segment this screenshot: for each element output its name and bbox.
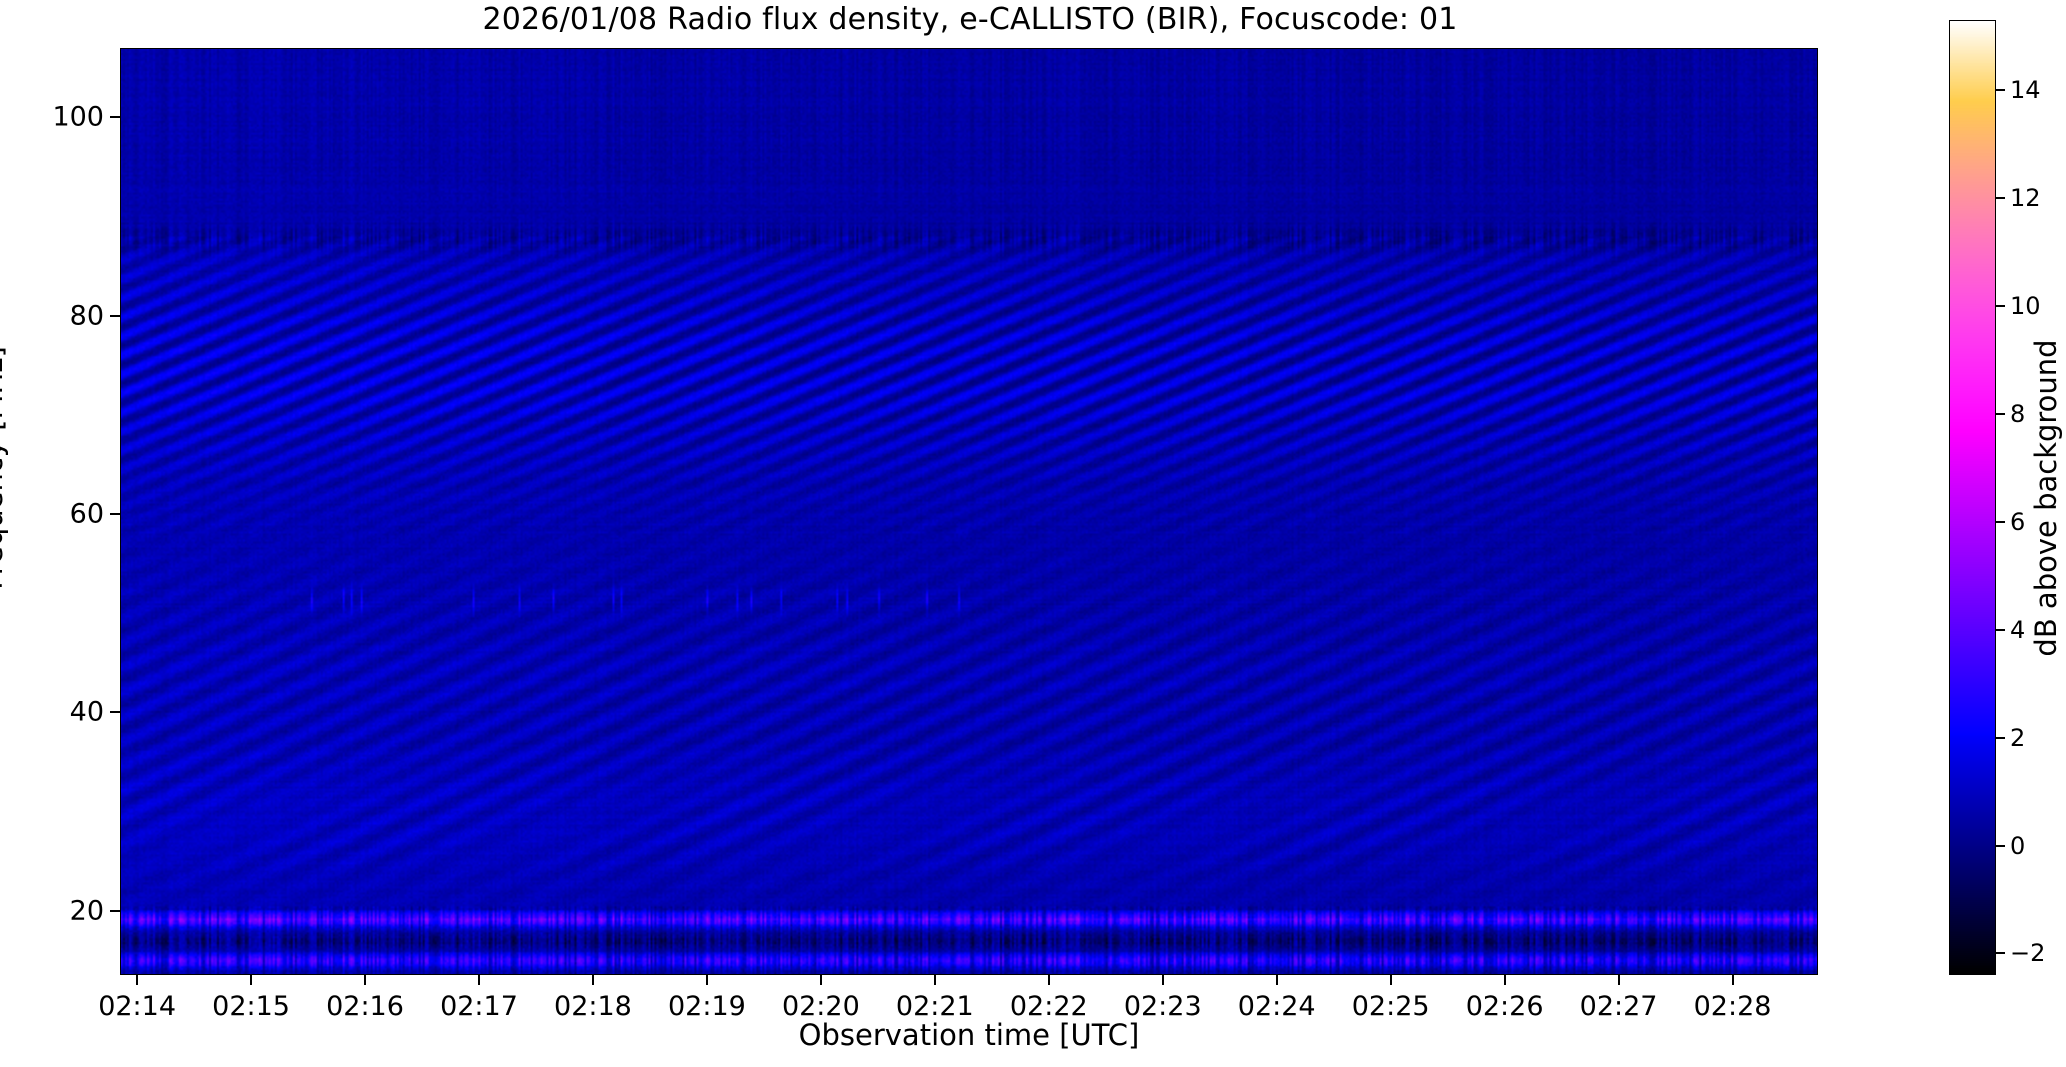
colorbar-label: dB above background	[2029, 339, 2063, 656]
colorbar-tick-label: 12	[2010, 184, 2041, 212]
y-tick-label: 20	[34, 895, 104, 926]
x-tick-mark	[1504, 975, 1506, 985]
colorbar-gradient	[1950, 21, 1995, 974]
x-tick-mark	[478, 975, 480, 985]
colorbar-tick-label: 10	[2010, 292, 2041, 320]
x-tick-label: 02:28	[1663, 991, 1803, 1022]
y-tick-label: 100	[34, 102, 104, 133]
x-tick-mark	[934, 975, 936, 985]
y-tick-label: 80	[34, 300, 104, 331]
x-axis-label: Observation time [UTC]	[799, 1018, 1140, 1052]
x-tick-mark	[706, 975, 708, 985]
chart-title: 2026/01/08 Radio flux density, e-CALLIST…	[0, 2, 1940, 37]
colorbar-tick-mark	[1996, 521, 2005, 523]
x-tick-mark	[364, 975, 366, 985]
colorbar[interactable]	[1949, 20, 1996, 975]
x-tick-mark	[1390, 975, 1392, 985]
y-axis-label: Frequency [MHz]	[0, 346, 9, 590]
colorbar-tick-label: 8	[2010, 400, 2025, 428]
colorbar-tick-mark	[1996, 737, 2005, 739]
y-tick-label: 40	[34, 697, 104, 728]
colorbar-tick-mark	[1996, 197, 2005, 199]
figure-canvas: 2026/01/08 Radio flux density, e-CALLIST…	[0, 0, 2066, 1067]
colorbar-tick-label: 0	[2010, 832, 2025, 860]
y-tick-mark	[110, 116, 120, 118]
colorbar-tick-label: 4	[2010, 616, 2025, 644]
y-tick-mark	[110, 513, 120, 515]
spectrogram-image	[121, 49, 1817, 974]
x-tick-mark	[1618, 975, 1620, 985]
colorbar-tick-label: 2	[2010, 724, 2025, 752]
x-tick-mark	[1048, 975, 1050, 985]
colorbar-tick-mark	[1996, 413, 2005, 415]
y-tick-label: 60	[34, 498, 104, 529]
x-tick-mark	[820, 975, 822, 985]
y-tick-mark	[110, 315, 120, 317]
colorbar-tick-mark	[1996, 952, 2005, 954]
colorbar-tick-label: 14	[2010, 76, 2041, 104]
y-tick-mark	[110, 711, 120, 713]
colorbar-tick-mark	[1996, 845, 2005, 847]
x-tick-mark	[1162, 975, 1164, 985]
colorbar-tick-mark	[1996, 629, 2005, 631]
x-tick-mark	[592, 975, 594, 985]
colorbar-tick-mark	[1996, 89, 2005, 91]
x-tick-mark	[1732, 975, 1734, 985]
x-tick-mark	[250, 975, 252, 985]
x-tick-mark	[136, 975, 138, 985]
spectrogram-axes[interactable]	[120, 48, 1818, 975]
y-tick-mark	[110, 910, 120, 912]
colorbar-tick-label: 6	[2010, 508, 2025, 536]
colorbar-tick-mark	[1996, 305, 2005, 307]
colorbar-tick-label: −2	[2010, 939, 2045, 967]
x-tick-mark	[1276, 975, 1278, 985]
